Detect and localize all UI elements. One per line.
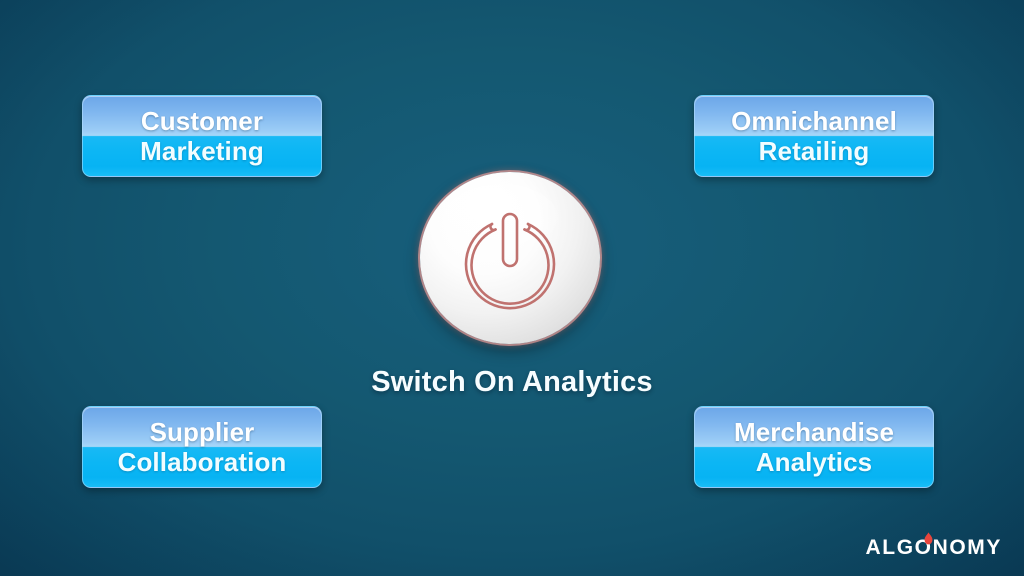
pill-label-line2: Marketing (140, 136, 264, 166)
pill-label-line2: Retailing (759, 136, 870, 166)
pill-merchandise-analytics[interactable]: Merchandise Analytics (694, 406, 934, 488)
pill-supplier-collaboration[interactable]: Supplier Collaboration (82, 406, 322, 488)
flame-icon (923, 532, 934, 545)
pill-customer-marketing[interactable]: Customer Marketing (82, 95, 322, 177)
pill-label-line1: Supplier (150, 417, 255, 447)
pill-label-line2: Analytics (756, 447, 873, 477)
slide-canvas: Customer Marketing Omnichannel Retailing… (0, 0, 1024, 576)
power-button[interactable] (420, 172, 600, 344)
pill-label-line1: Merchandise (734, 417, 894, 447)
pill-label-line1: Customer (141, 106, 263, 136)
power-icon (454, 202, 566, 314)
brand-logo-text: ALGONOMY (866, 536, 1002, 560)
pill-label-line1: Omnichannel (731, 106, 897, 136)
page-title: Switch On Analytics (0, 366, 1024, 399)
pill-omnichannel-retailing[interactable]: Omnichannel Retailing (694, 95, 934, 177)
brand-logo: ALGONOMY (866, 536, 1002, 560)
pill-label-line2: Collaboration (118, 447, 287, 477)
